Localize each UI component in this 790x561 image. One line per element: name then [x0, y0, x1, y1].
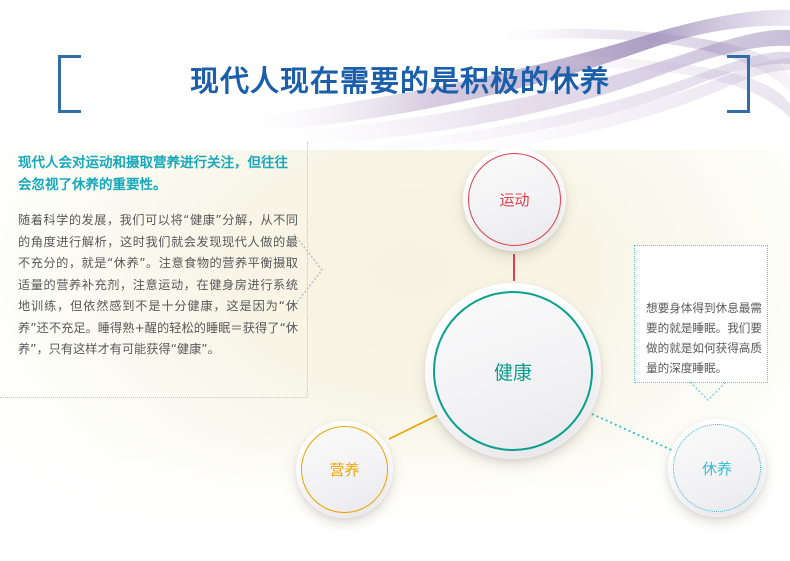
node-exercise[interactable]: 运动 — [463, 148, 566, 251]
node-nutrition-label: 营养 — [329, 459, 359, 480]
node-rest[interactable]: 休养 — [668, 419, 766, 517]
connector-rest — [592, 414, 676, 452]
node-exercise-label: 运动 — [499, 189, 529, 210]
callout-tail — [690, 382, 730, 404]
node-health-center[interactable]: 健康 — [425, 283, 601, 459]
node-rest-label: 休养 — [702, 458, 732, 479]
connector-nutrition — [389, 412, 444, 439]
callout-text: 想要身体得到休息最需要的就是睡眠。我们要做的就是如何获得高质量的深度睡眠。 — [646, 298, 762, 378]
node-nutrition[interactable]: 营养 — [296, 421, 393, 518]
infographic-slide: 现代人现在需要的是积极的休养 现代人会对运动和摄取营养进行关注，但往往会忽视了休… — [0, 0, 790, 561]
node-health-label: 健康 — [494, 358, 532, 385]
